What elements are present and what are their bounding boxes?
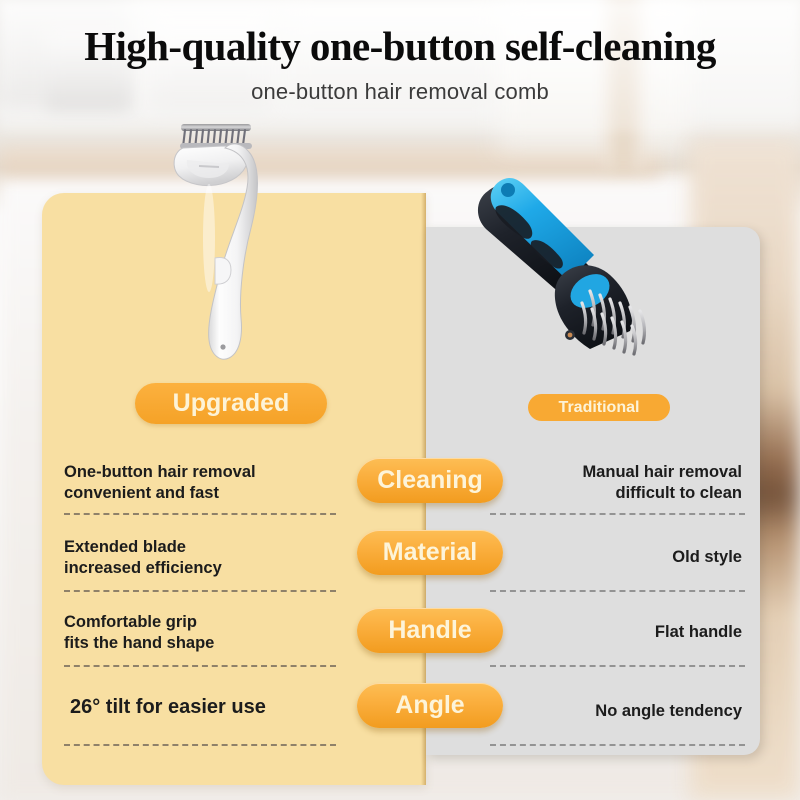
divider-left-1 bbox=[64, 513, 336, 515]
divider-right-2 bbox=[490, 590, 745, 592]
upgraded-text-handle: Comfortable gripfits the hand shape bbox=[64, 612, 334, 654]
blue-black-rake-comb-icon bbox=[470, 163, 650, 363]
traditional-text-material: Old style bbox=[492, 547, 742, 568]
upgraded-text-angle: 26° tilt for easier use bbox=[70, 697, 340, 718]
category-pill-handle: Handle bbox=[357, 608, 503, 653]
white-self-cleaning-comb-icon bbox=[163, 118, 283, 368]
white-comb-hang-hole bbox=[220, 344, 225, 349]
upgraded-text-cleaning: One-button hair removalconvenient and fa… bbox=[64, 462, 334, 504]
page-subtitle: one-button hair removal comb bbox=[0, 79, 800, 105]
divider-left-3 bbox=[64, 665, 336, 667]
divider-left-4 bbox=[64, 744, 336, 746]
divider-right-4 bbox=[490, 744, 745, 746]
category-pill-angle: Angle bbox=[357, 683, 503, 728]
upgraded-badge: Upgraded bbox=[135, 383, 327, 424]
traditional-text-angle: No angle tendency bbox=[492, 701, 742, 722]
traditional-badge: Traditional bbox=[528, 394, 670, 421]
divider-right-3 bbox=[490, 665, 745, 667]
category-pill-material: Material bbox=[357, 530, 503, 575]
category-pill-cleaning: Cleaning bbox=[357, 458, 503, 503]
upgraded-text-material: Extended bladeincreased efficiency bbox=[64, 537, 334, 579]
divider-left-2 bbox=[64, 590, 336, 592]
page-title: High-quality one-button self-cleaning bbox=[0, 22, 800, 70]
divider-right-1 bbox=[490, 513, 745, 515]
blue-comb-hang-hole bbox=[501, 183, 515, 197]
traditional-text-handle: Flat handle bbox=[492, 622, 742, 643]
traditional-text-cleaning: Manual hair removaldifficult to clean bbox=[492, 462, 742, 504]
